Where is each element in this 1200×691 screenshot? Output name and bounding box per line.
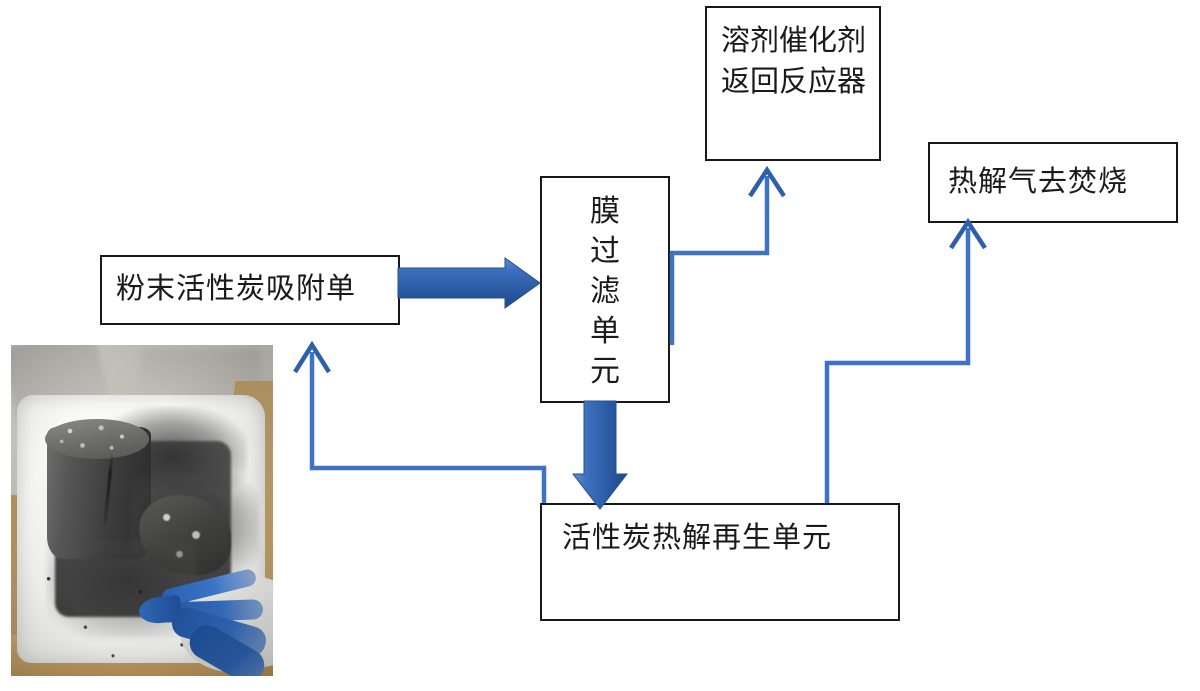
- connector-regeneration-to-adsorption: [295, 345, 544, 503]
- connector-membrane-to-solvent-return: [672, 170, 784, 345]
- photo-vignette: [11, 345, 273, 676]
- node-solvent-catalyst-return-label: 溶剂催化剂返回反应器: [721, 21, 869, 103]
- node-pyrolysis-gas-to-incineration[interactable]: 热解气去焚烧: [928, 142, 1178, 223]
- node-carbon-pyrolysis-regeneration-unit[interactable]: 活性炭热解再生单元: [540, 503, 900, 621]
- node-membrane-filtration-unit-label: 膜过滤单元: [588, 192, 622, 391]
- connector-regeneration-to-pyrolysis-gas: [827, 222, 985, 503]
- flow-diagram-canvas: 粉末活性炭吸附单 膜过滤单元 溶剂催化剂返回反应器 热解气去焚烧 活性炭热解再生…: [0, 0, 1200, 691]
- connector-adsorption-to-membrane: [398, 258, 540, 308]
- carbon-sample-photo: [11, 345, 273, 676]
- node-pyrolysis-gas-to-incineration-label: 热解气去焚烧: [948, 165, 1128, 201]
- node-membrane-filtration-unit[interactable]: 膜过滤单元: [540, 176, 670, 403]
- node-solvent-catalyst-return[interactable]: 溶剂催化剂返回反应器: [705, 6, 881, 161]
- connector-membrane-to-regeneration: [573, 401, 627, 509]
- node-adsorption-unit-label: 粉末活性炭吸附单: [116, 272, 356, 308]
- node-carbon-pyrolysis-regeneration-unit-label: 活性炭热解再生单元: [562, 521, 832, 557]
- node-adsorption-unit[interactable]: 粉末活性炭吸附单: [100, 255, 400, 325]
